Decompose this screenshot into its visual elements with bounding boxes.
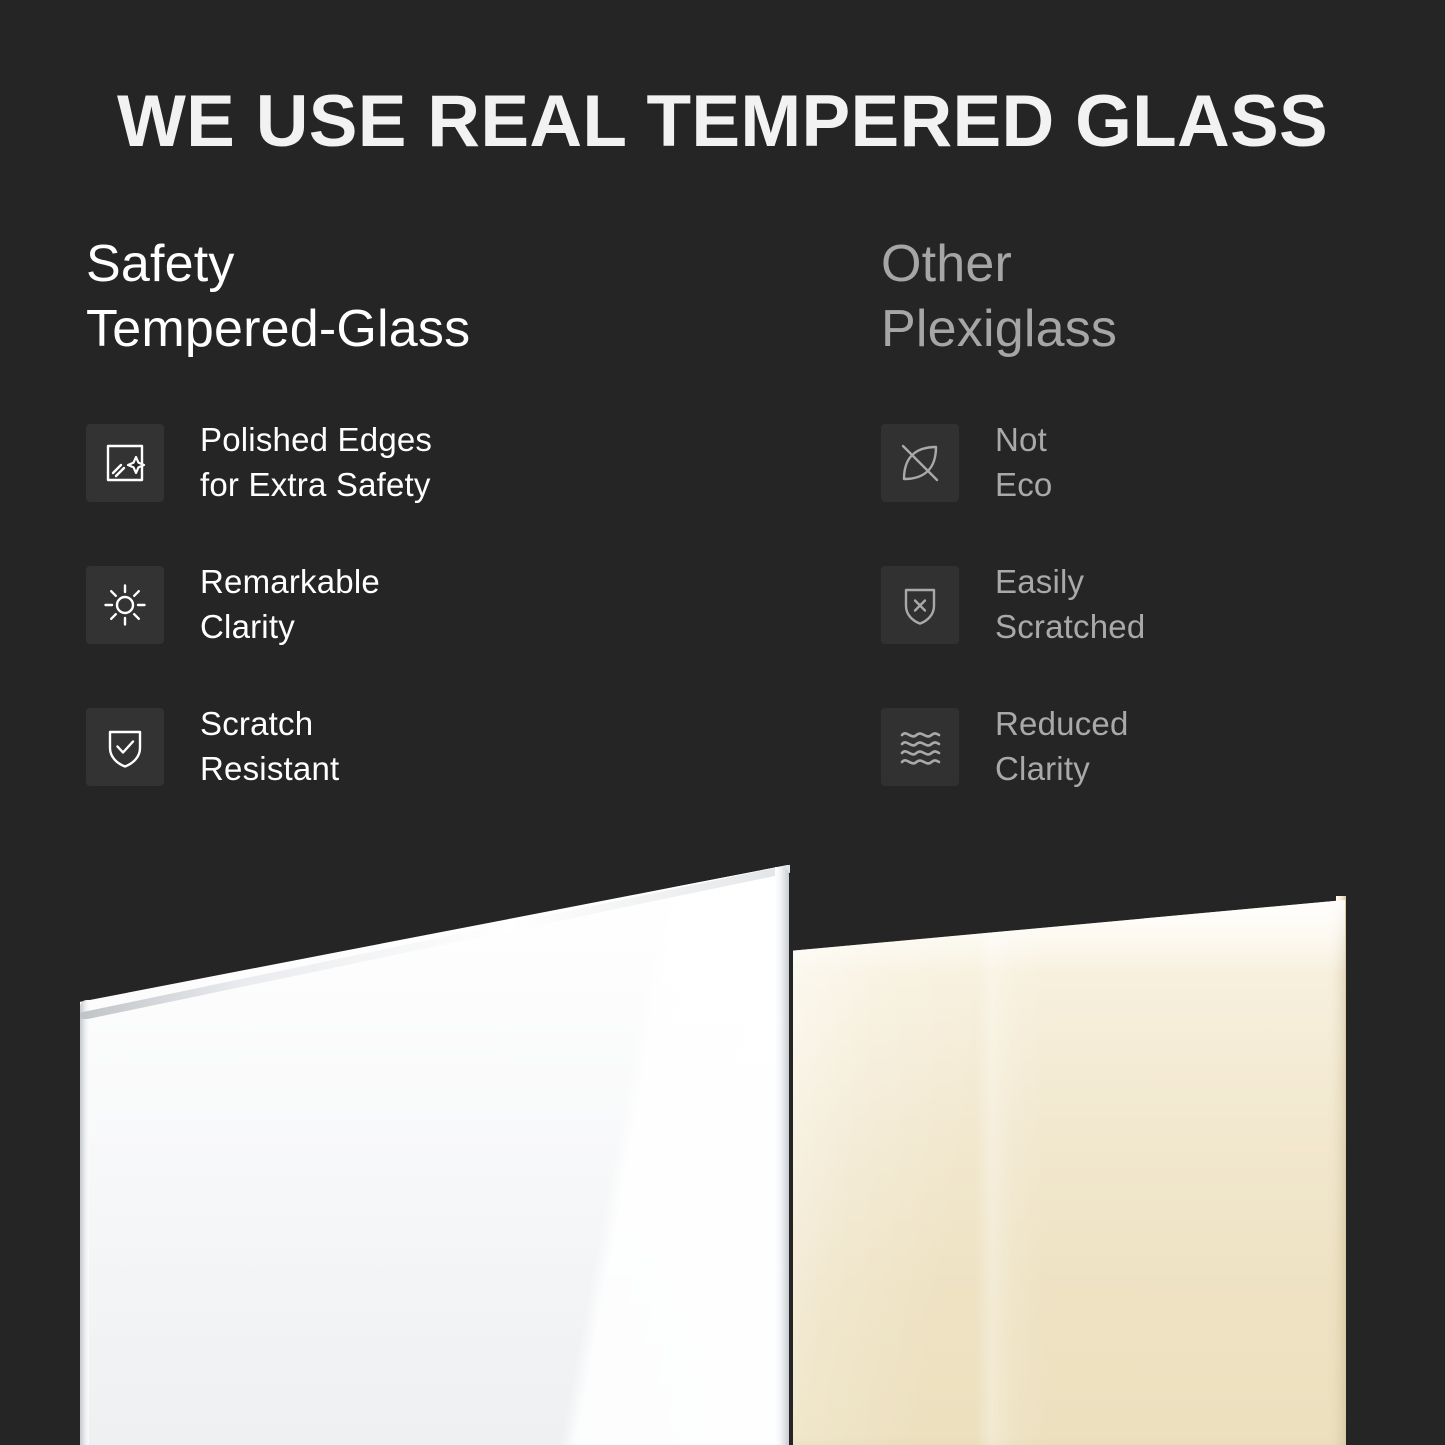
page-title: WE USE REAL TEMPERED GLASS [0, 85, 1445, 158]
feature-list-plexiglass: Not Eco Easily Scratched [881, 424, 1441, 786]
comparison-columns: Safety Tempered-Glass Polished Edges for… [0, 232, 1445, 832]
feature-polished-edges: Polished Edges for Extra Safety [86, 424, 646, 502]
polished-glass-sparkle-icon [86, 424, 164, 502]
column-tempered-glass: Safety Tempered-Glass Polished Edges for… [86, 232, 646, 786]
feature-label-polished-edges: Polished Edges for Extra Safety [200, 418, 432, 508]
feature-easily-scratched: Easily Scratched [881, 566, 1441, 644]
shield-x-icon [881, 566, 959, 644]
feature-not-eco: Not Eco [881, 424, 1441, 502]
feature-label-not-eco: Not Eco [995, 418, 1052, 508]
feature-reduced-clarity: Reduced Clarity [881, 708, 1441, 786]
glass-panels-photo [0, 845, 1445, 1445]
feature-list-tempered-glass: Polished Edges for Extra Safety [86, 424, 646, 786]
feature-label-scratch-resistant: Scratch Resistant [200, 702, 339, 792]
column-plexiglass: Other Plexiglass Not Eco [881, 232, 1441, 786]
feature-label-easily-scratched: Easily Scratched [995, 560, 1145, 650]
wavy-lines-icon [881, 708, 959, 786]
leaf-crossed-out-icon [881, 424, 959, 502]
clear-tempered-glass-sheet [80, 865, 788, 1445]
feature-label-remarkable-clarity: Remarkable Clarity [200, 560, 380, 650]
column-title-plexiglass: Other Plexiglass [881, 232, 1441, 362]
product-comparison-infographic: WE USE REAL TEMPERED GLASS Safety Temper… [0, 0, 1445, 1445]
feature-remarkable-clarity: Remarkable Clarity [86, 566, 646, 644]
yellowed-plexiglass-sheet [793, 900, 1345, 1445]
column-title-tempered-glass: Safety Tempered-Glass [86, 232, 646, 362]
shield-check-icon [86, 708, 164, 786]
feature-scratch-resistant: Scratch Resistant [86, 708, 646, 786]
feature-label-reduced-clarity: Reduced Clarity [995, 702, 1129, 792]
sun-clarity-icon [86, 566, 164, 644]
